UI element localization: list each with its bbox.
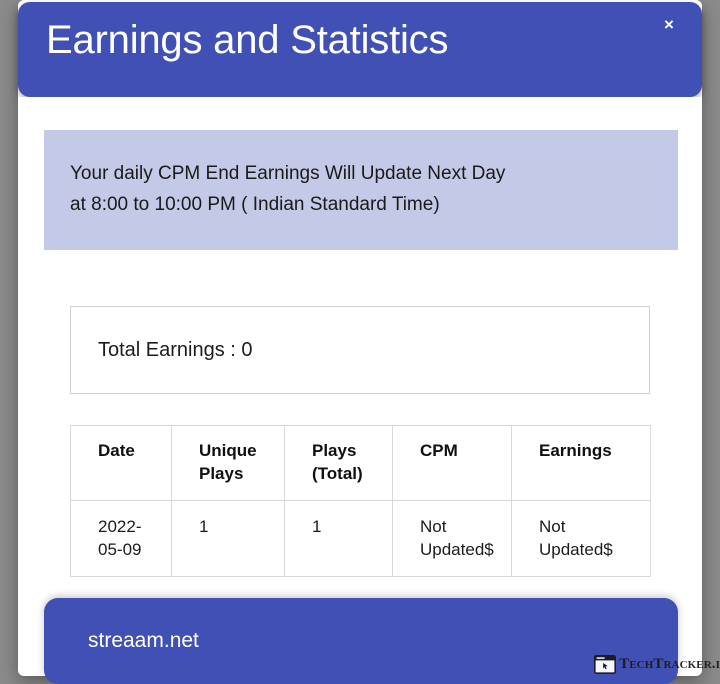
cell-date-line-1: 2022-: [98, 517, 141, 536]
modal-header: Earnings and Statistics ×: [18, 2, 702, 97]
earnings-table-body: 2022- 05-09 1 1 Not Updated$: [71, 500, 651, 576]
cell-cpm-line-2: Updated$: [420, 540, 494, 559]
modal-footer: streaam.net: [44, 598, 678, 684]
cell-date-line-2: 05-09: [98, 540, 141, 559]
column-header-cpm-label: CPM: [420, 441, 458, 460]
column-header-plays-total-line-2: (Total): [312, 464, 363, 483]
earnings-modal: Earnings and Statistics × Your daily CPM…: [18, 0, 702, 676]
info-banner: Your daily CPM End Earnings Will Update …: [44, 130, 678, 250]
info-banner-line-1: Your daily CPM End Earnings Will Update …: [70, 158, 652, 189]
info-banner-line-2: at 8:00 to 10:00 PM ( Indian Standard Ti…: [70, 189, 652, 220]
earnings-table-head: Date Unique Plays Plays (Total) CPM: [71, 426, 651, 501]
screen: Earnings and Statistics × Your daily CPM…: [0, 0, 720, 684]
total-earnings-panel: Total Earnings : 0: [70, 306, 650, 394]
table-row: 2022- 05-09 1 1 Not Updated$: [71, 500, 651, 576]
column-header-earnings-label: Earnings: [539, 441, 612, 460]
cell-cpm-line-1: Not: [420, 517, 446, 536]
watermark: TechTracker.i: [594, 655, 720, 674]
column-header-unique-plays-line-1: Unique: [199, 441, 257, 460]
column-header-cpm[interactable]: CPM: [393, 426, 512, 501]
cell-plays-total-value: 1: [312, 517, 321, 536]
column-header-earnings[interactable]: Earnings: [512, 426, 651, 501]
modal-body: Your daily CPM End Earnings Will Update …: [18, 97, 702, 597]
cell-earnings-line-2: Updated$: [539, 540, 613, 559]
table-header-row: Date Unique Plays Plays (Total) CPM: [71, 426, 651, 501]
page-title: Earnings and Statistics: [46, 16, 448, 64]
cell-date: 2022- 05-09: [71, 500, 172, 576]
cell-earnings-line-1: Not: [539, 517, 565, 536]
footer-domain-label: streaam.net: [88, 629, 199, 653]
watermark-label: TechTracker.i: [619, 656, 720, 673]
cell-unique-plays: 1: [172, 500, 285, 576]
cell-unique-plays-value: 1: [199, 517, 208, 536]
column-header-plays-total[interactable]: Plays (Total): [285, 426, 393, 501]
column-header-date-label: Date: [98, 441, 135, 460]
cell-cpm: Not Updated$: [393, 500, 512, 576]
column-header-unique-plays[interactable]: Unique Plays: [172, 426, 285, 501]
total-earnings-value: Total Earnings : 0: [71, 339, 253, 362]
column-header-date[interactable]: Date: [71, 426, 172, 501]
cell-plays-total: 1: [285, 500, 393, 576]
earnings-table: Date Unique Plays Plays (Total) CPM: [70, 425, 651, 577]
cell-earnings: Not Updated$: [512, 500, 651, 576]
column-header-unique-plays-line-2: Plays: [199, 464, 243, 483]
close-icon[interactable]: ×: [658, 13, 680, 35]
column-header-plays-total-line-1: Plays: [312, 441, 356, 460]
browser-window-icon: [594, 655, 616, 674]
